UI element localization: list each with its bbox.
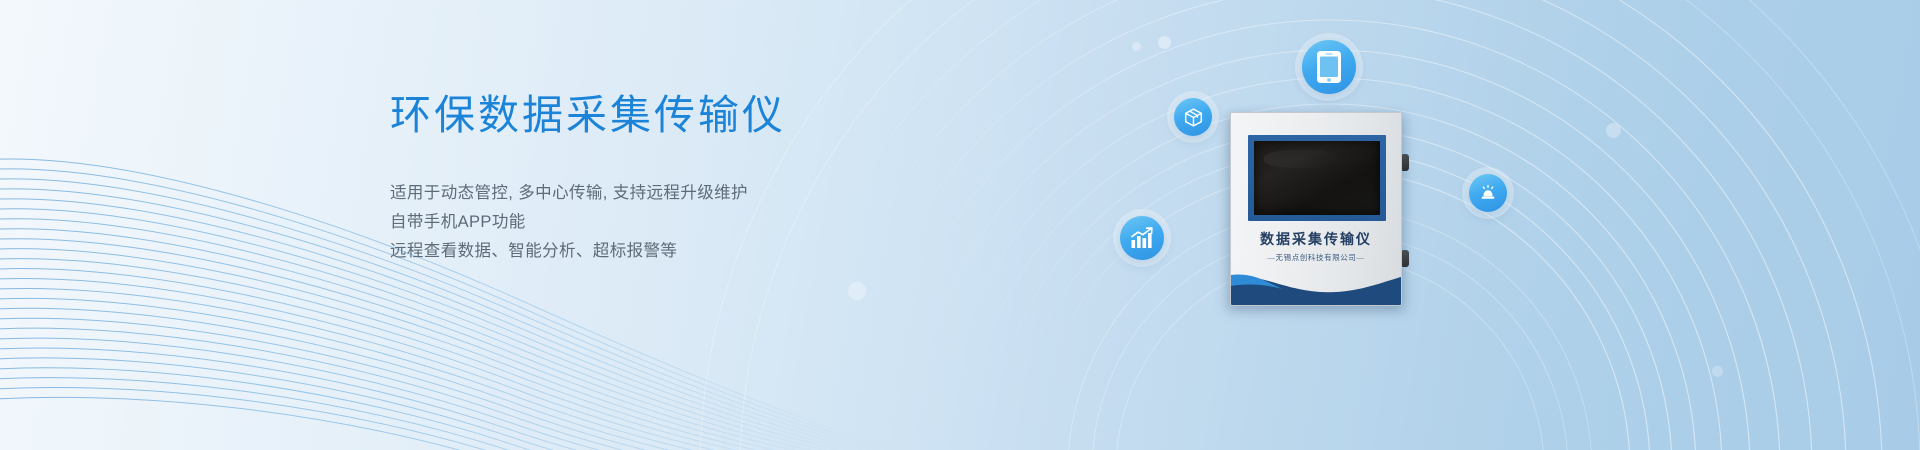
bokeh-dot: [848, 282, 866, 300]
hero-subtitle-line-3: 远程查看数据、智能分析、超标报警等: [390, 237, 1030, 266]
bokeh-dot: [1712, 366, 1723, 377]
device-screen-bezel: [1248, 135, 1386, 221]
hero-subtitle-line-1: 适用于动态管控, 多中心传输, 支持远程升级维护: [390, 179, 1030, 208]
device-body: 数据采集传输仪 —无锡点创科技有限公司—: [1230, 112, 1402, 306]
alarm-siren-icon: [1469, 174, 1507, 212]
product-illustration: 数据采集传输仪 —无锡点创科技有限公司—: [1080, 0, 1700, 450]
product-hero-banner: 环保数据采集传输仪 适用于动态管控, 多中心传输, 支持远程升级维护 自带手机A…: [0, 0, 1920, 450]
hero-text-block: 环保数据采集传输仪 适用于动态管控, 多中心传输, 支持远程升级维护 自带手机A…: [390, 92, 1030, 266]
page-title: 环保数据采集传输仪: [390, 92, 1030, 139]
device-screen: [1254, 141, 1380, 215]
data-acquisition-device: 数据采集传输仪 —无锡点创科技有限公司—: [1230, 112, 1402, 306]
device-wave-graphic: [1231, 259, 1401, 305]
mobile-phone-icon: [1302, 40, 1356, 94]
hero-subtitle-line-2: 自带手机APP功能: [390, 208, 1030, 237]
device-connector-nub: [1402, 154, 1409, 171]
bar-chart-growth-icon: [1120, 216, 1164, 260]
device-caption: 数据采集传输仪 —无锡点创科技有限公司—: [1231, 229, 1401, 263]
device-connector-nub: [1402, 250, 1409, 267]
device-title-label: 数据采集传输仪: [1231, 229, 1401, 249]
cube-box-icon: [1174, 98, 1212, 136]
hero-subtitle-list: 适用于动态管控, 多中心传输, 支持远程升级维护 自带手机APP功能 远程查看数…: [390, 179, 1030, 266]
